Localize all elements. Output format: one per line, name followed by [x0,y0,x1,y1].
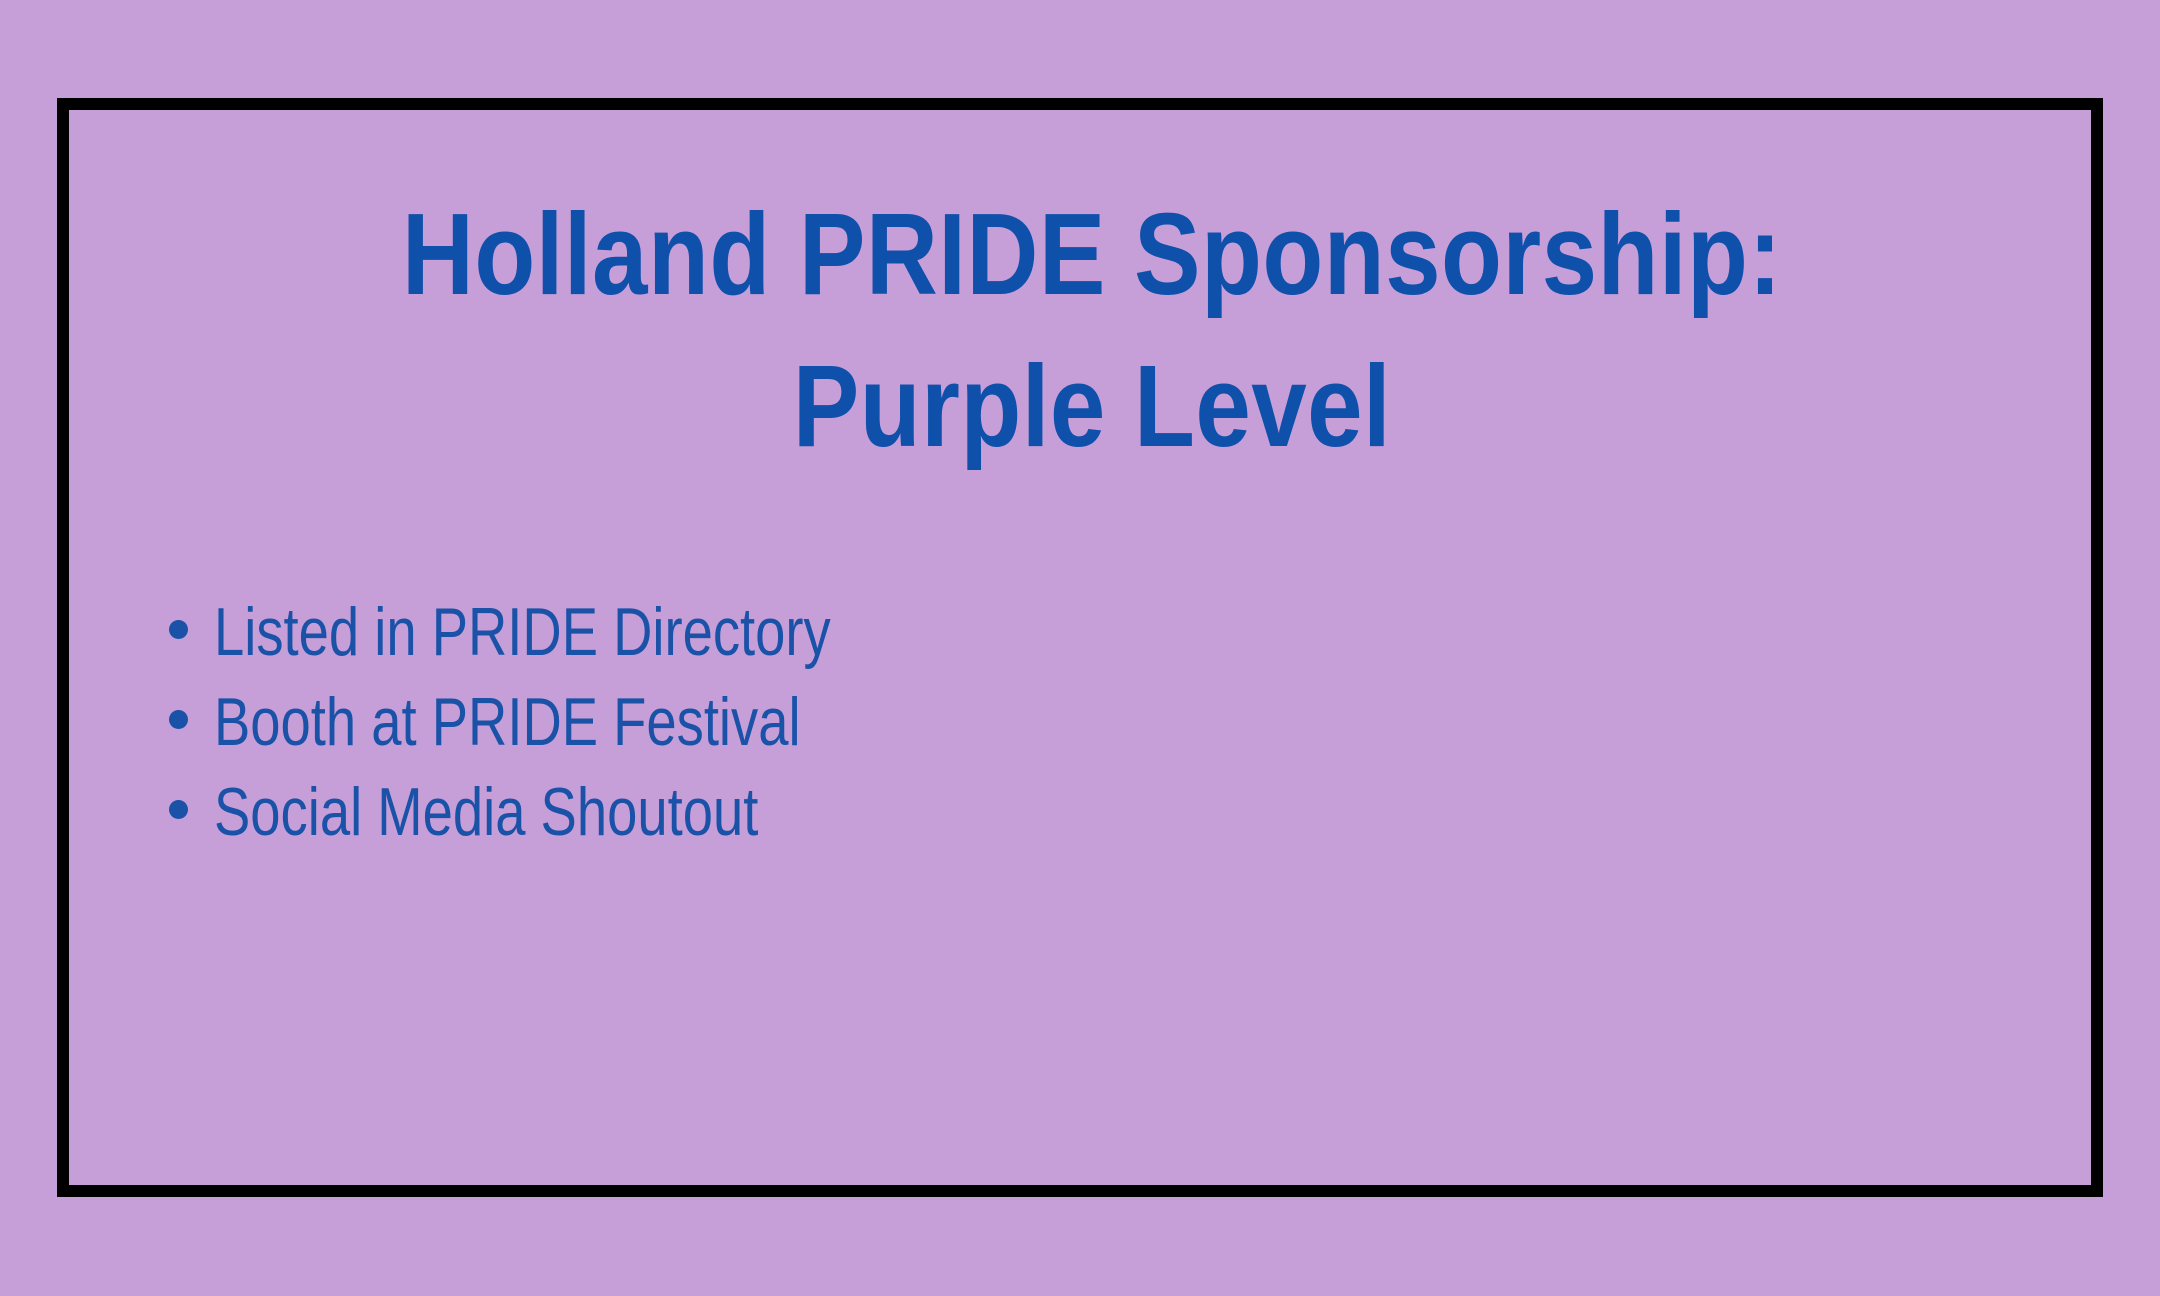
list-item: Social Media Shoutout [169,768,1669,858]
bullet-dot-icon [169,710,188,729]
list-item-label: Booth at PRIDE Festival [214,678,801,766]
slide-canvas: Holland PRIDE Sponsorship: Purple Level … [0,0,2160,1296]
bullet-dot-icon [169,800,188,819]
list-item-label: Listed in PRIDE Directory [214,588,831,676]
slide-content-area: Holland PRIDE Sponsorship: Purple Level … [69,110,2115,1209]
slide-title: Holland PRIDE Sponsorship: Purple Level [69,178,2115,482]
title-line-1: Holland PRIDE Sponsorship: [212,178,1972,330]
list-item-label: Social Media Shoutout [214,768,758,856]
list-item: Booth at PRIDE Festival [169,678,1669,768]
benefits-bullet-list: Listed in PRIDE Directory Booth at PRIDE… [169,588,1669,858]
bullet-dot-icon [169,620,188,639]
list-item: Listed in PRIDE Directory [169,588,1669,678]
title-line-2: Purple Level [212,330,1972,482]
slide-border-frame: Holland PRIDE Sponsorship: Purple Level … [57,98,2103,1197]
